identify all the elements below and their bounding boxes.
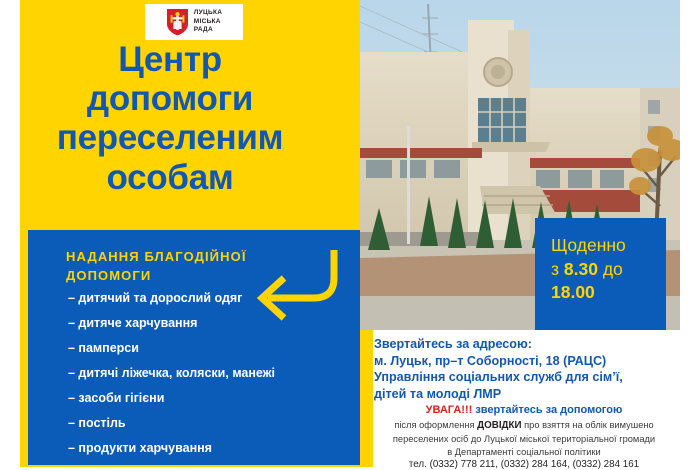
schedule-daily: Щоденно: [551, 235, 626, 255]
address-line-2: м. Луцьк, пр–т Соборності, 18 (РАЦС): [374, 353, 674, 370]
notice-body-post: про взяття на облік вимушено: [522, 420, 654, 430]
schedule-box: Щоденно з 8.30 до 18.00: [535, 218, 666, 330]
notice-block: УВАГА!!! звертайтесь за допомогою після …: [366, 404, 682, 470]
aid-item-list: – дитячий та дорослий одяг – дитяче харч…: [68, 292, 348, 465]
notice-body-line3: в Департаменті соціальної політики: [447, 447, 601, 457]
logo-text: ЛУЦЬКА МІСЬКА РАДА: [194, 9, 223, 35]
list-item: – дитяче харчування: [68, 317, 348, 330]
page-title: Центр допомоги переселеним особам: [0, 40, 340, 197]
address-block: Звертайтесь за адресою: м. Луцьк, пр–т С…: [374, 336, 674, 403]
address-line-3: Управління соціальних служб для сім’ї,: [374, 369, 674, 386]
schedule-to-word: до: [603, 259, 623, 279]
notice-body-line2: переселених осіб до Луцької міської тери…: [393, 434, 655, 444]
notice-body: після оформлення ДОВІДКИ про взяття на о…: [366, 419, 682, 458]
coat-of-arms-icon: [166, 8, 189, 36]
address-line-4: дітей та молоді ЛМР: [374, 386, 674, 403]
list-item: – памперси: [68, 342, 348, 355]
phone-numbers: тел. (0332) 778 211, (0332) 284 164, (03…: [366, 459, 682, 470]
schedule-from-word: з: [551, 259, 559, 279]
list-item: – засоби гігієни: [68, 392, 348, 405]
title-line-3: переселеним: [0, 118, 340, 157]
notice-headline: УВАГА!!! звертайтесь за допомогою: [366, 404, 682, 417]
title-line-1: Центр: [0, 40, 340, 79]
list-item: – продукти харчування: [68, 442, 348, 455]
notice-body-pre: після оформлення: [394, 420, 477, 430]
title-line-2: допомоги: [0, 79, 340, 118]
schedule-time-to: 18.00: [551, 282, 595, 302]
list-item: – дитячі ліжечка, коляски, манежі: [68, 367, 348, 380]
attention-label: УВАГА!!!: [426, 404, 473, 416]
notice-body-bold: ДОВІДКИ: [477, 420, 521, 431]
address-line-1: Звертайтесь за адресою:: [374, 336, 674, 353]
list-item: – дитячий та дорослий одяг: [68, 292, 348, 305]
schedule-time-from: 8.30: [564, 259, 598, 279]
notice-cta: звертайтесь за допомогою: [475, 404, 622, 416]
list-item: – постіль: [68, 417, 348, 430]
aid-panel: НАДАННЯ БЛАГОДІЙНОЇ ДОПОМОГИ – дитячий т…: [28, 230, 360, 465]
city-council-logo: ЛУЦЬКА МІСЬКА РАДА: [145, 4, 243, 40]
title-line-4: особам: [0, 158, 340, 197]
poster: ЛУЦЬКА МІСЬКА РАДА Центр допомоги пересе…: [0, 0, 700, 467]
